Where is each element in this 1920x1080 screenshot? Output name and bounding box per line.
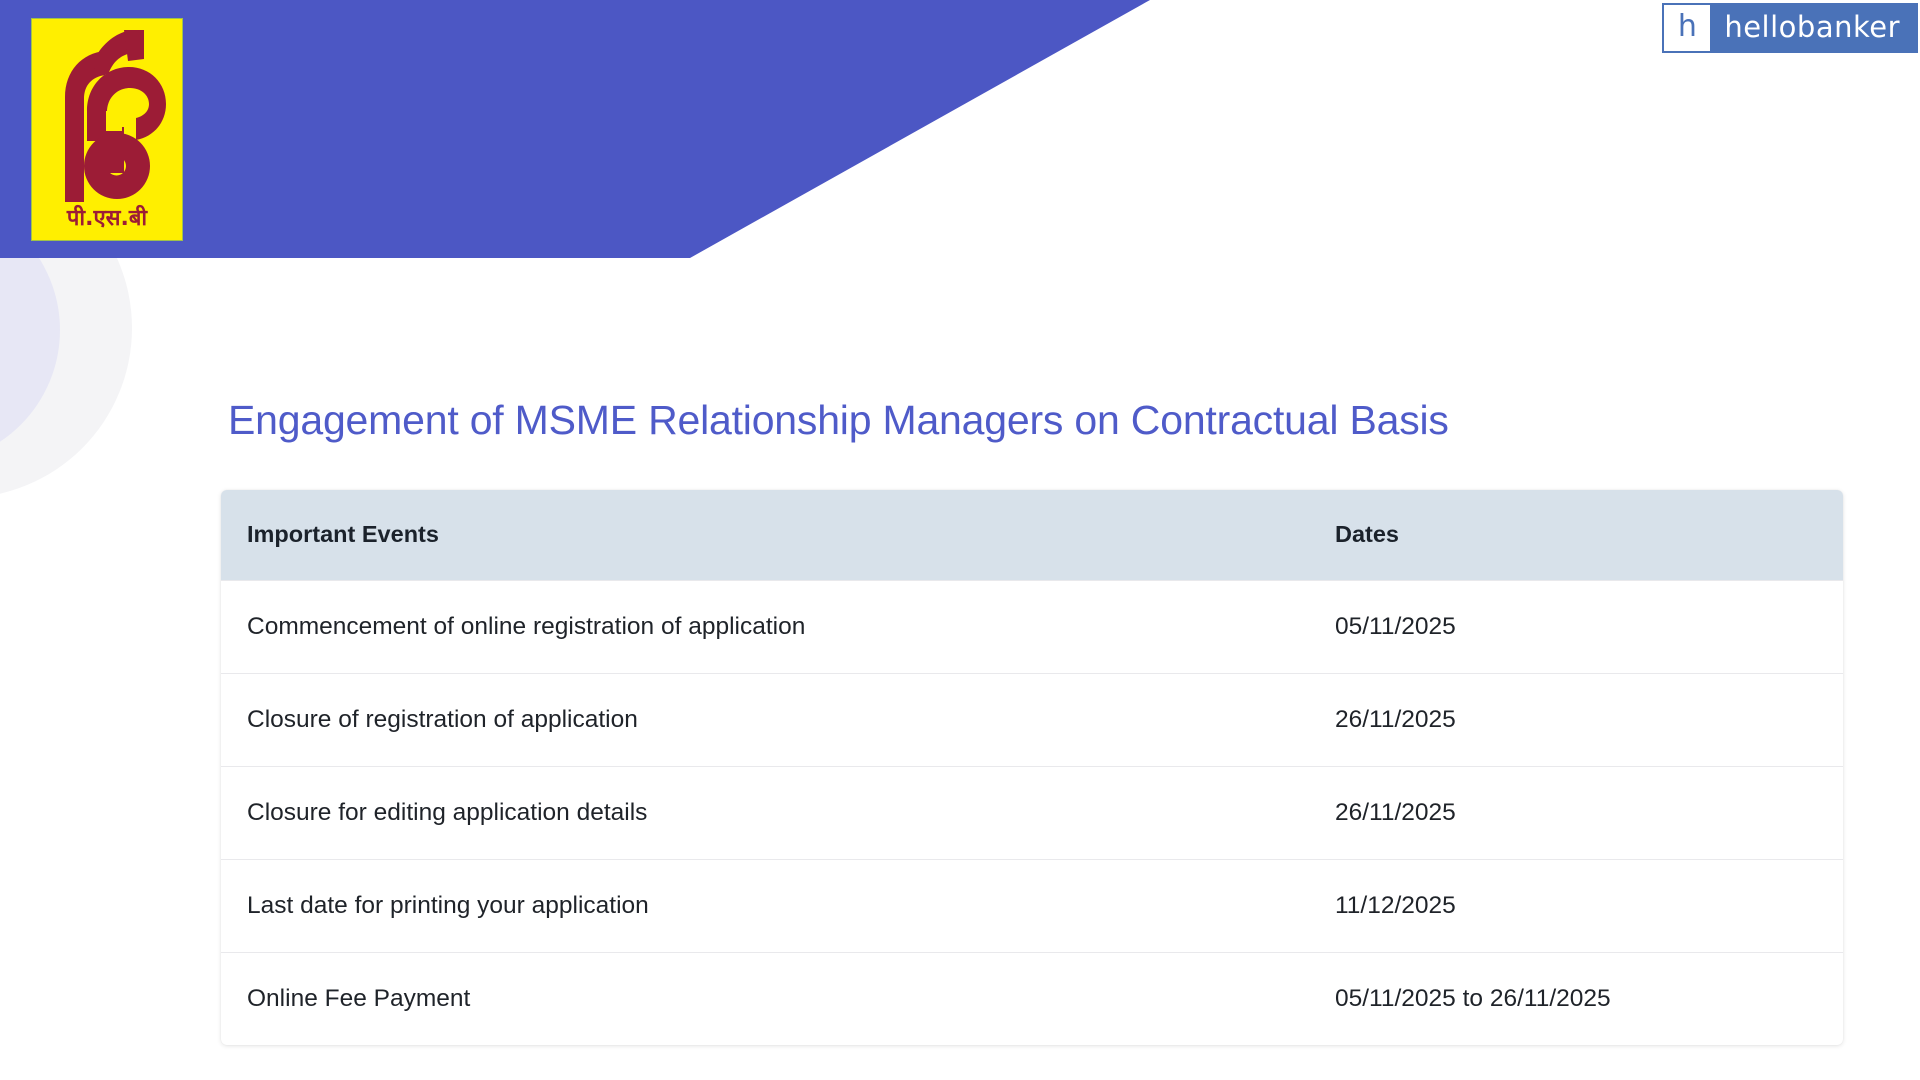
cell-date: 05/11/2025 bbox=[1311, 580, 1843, 673]
hellobanker-wordmark: hellobanker bbox=[1710, 5, 1916, 51]
table-row: Closure for editing application details … bbox=[221, 766, 1843, 859]
column-header-important-events: Important Events bbox=[221, 490, 1311, 580]
punjab-and-sind-bank-logo: पी.एस.बी bbox=[31, 18, 183, 241]
cell-date: 26/11/2025 bbox=[1311, 766, 1843, 859]
cell-event: Commencement of online registration of a… bbox=[221, 580, 1311, 673]
cell-event: Closure of registration of application bbox=[221, 673, 1311, 766]
page-title: Engagement of MSME Relationship Managers… bbox=[228, 396, 1449, 445]
column-header-dates: Dates bbox=[1311, 490, 1843, 580]
cell-event: Online Fee Payment bbox=[221, 952, 1311, 1045]
cell-date: 26/11/2025 bbox=[1311, 673, 1843, 766]
table-row: Last date for printing your application … bbox=[221, 859, 1843, 952]
cell-date: 05/11/2025 to 26/11/2025 bbox=[1311, 952, 1843, 1045]
cell-date: 11/12/2025 bbox=[1311, 859, 1843, 952]
page-root: पी.एस.बी h hellobanker Engagement of MSM… bbox=[0, 0, 1920, 1080]
important-events-table: Important Events Dates Commencement of o… bbox=[221, 490, 1843, 1045]
psb-script-label: पी.एस.बी bbox=[66, 204, 149, 231]
table-head: Important Events Dates bbox=[221, 490, 1843, 580]
important-events-card: Important Events Dates Commencement of o… bbox=[221, 490, 1843, 1045]
cell-event: Closure for editing application details bbox=[221, 766, 1311, 859]
table-row: Online Fee Payment 05/11/2025 to 26/11/2… bbox=[221, 952, 1843, 1045]
cell-event: Last date for printing your application bbox=[221, 859, 1311, 952]
table-body: Commencement of online registration of a… bbox=[221, 580, 1843, 1045]
table-row: Closure of registration of application 2… bbox=[221, 673, 1843, 766]
hellobanker-logo: h hellobanker bbox=[1662, 3, 1918, 53]
table-row: Commencement of online registration of a… bbox=[221, 580, 1843, 673]
table-header-row: Important Events Dates bbox=[221, 490, 1843, 580]
hellobanker-mark-icon: h bbox=[1664, 5, 1710, 51]
